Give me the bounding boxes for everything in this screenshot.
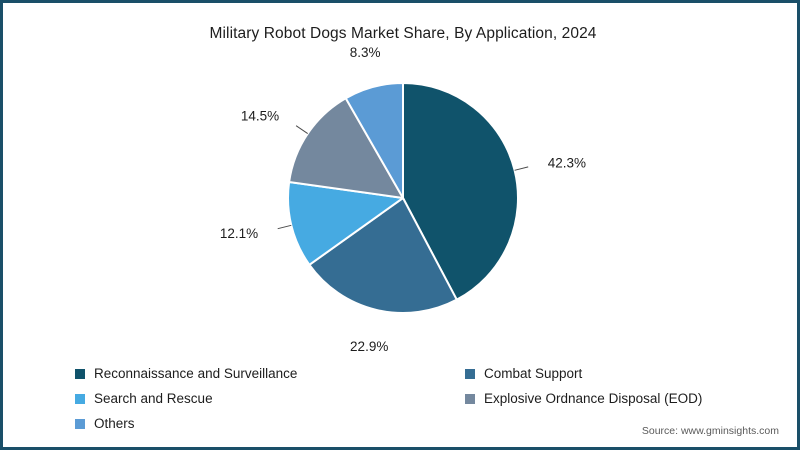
legend-color-swatch	[75, 369, 85, 379]
pie-slice-value-label: 22.9%	[350, 339, 388, 353]
legend-color-swatch	[465, 369, 475, 379]
pie-slice-value-label: 42.3%	[548, 156, 586, 171]
legend-item-label: Explosive Ordnance Disposal (EOD)	[484, 391, 702, 406]
legend-item[interactable]: Combat Support	[465, 366, 765, 381]
chart-figure: Military Robot Dogs Market Share, By App…	[0, 0, 800, 450]
legend-item[interactable]: Explosive Ordnance Disposal (EOD)	[465, 391, 765, 406]
legend-item[interactable]: Search and Rescue	[75, 391, 465, 406]
pie-chart-area: Reconnaissance and Surveillance 42.3%Com…	[3, 3, 800, 353]
legend-item-label: Search and Rescue	[94, 391, 213, 406]
legend-color-swatch	[75, 394, 85, 404]
legend-color-swatch	[465, 394, 475, 404]
label-leader-line	[278, 225, 292, 228]
legend-item-label: Combat Support	[484, 366, 582, 381]
legend-item[interactable]: Reconnaissance and Surveillance	[75, 366, 465, 381]
pie-slice-group: Reconnaissance and Surveillance 42.3%Com…	[288, 83, 518, 313]
legend-item-label: Others	[94, 416, 135, 431]
label-leader-line	[515, 167, 529, 170]
pie-slice-value-label: 12.1%	[220, 226, 258, 241]
pie-chart-svg: Reconnaissance and Surveillance 42.3%Com…	[3, 3, 800, 353]
pie-slice-value-label: 14.5%	[241, 109, 279, 124]
legend-color-swatch	[75, 419, 85, 429]
legend-item-label: Reconnaissance and Surveillance	[94, 366, 297, 381]
source-attribution: Source: www.gminsights.com	[642, 425, 779, 437]
legend-item[interactable]: Others	[75, 416, 465, 431]
pie-slice-value-label: 8.3%	[350, 45, 381, 60]
label-leader-line	[296, 126, 308, 134]
